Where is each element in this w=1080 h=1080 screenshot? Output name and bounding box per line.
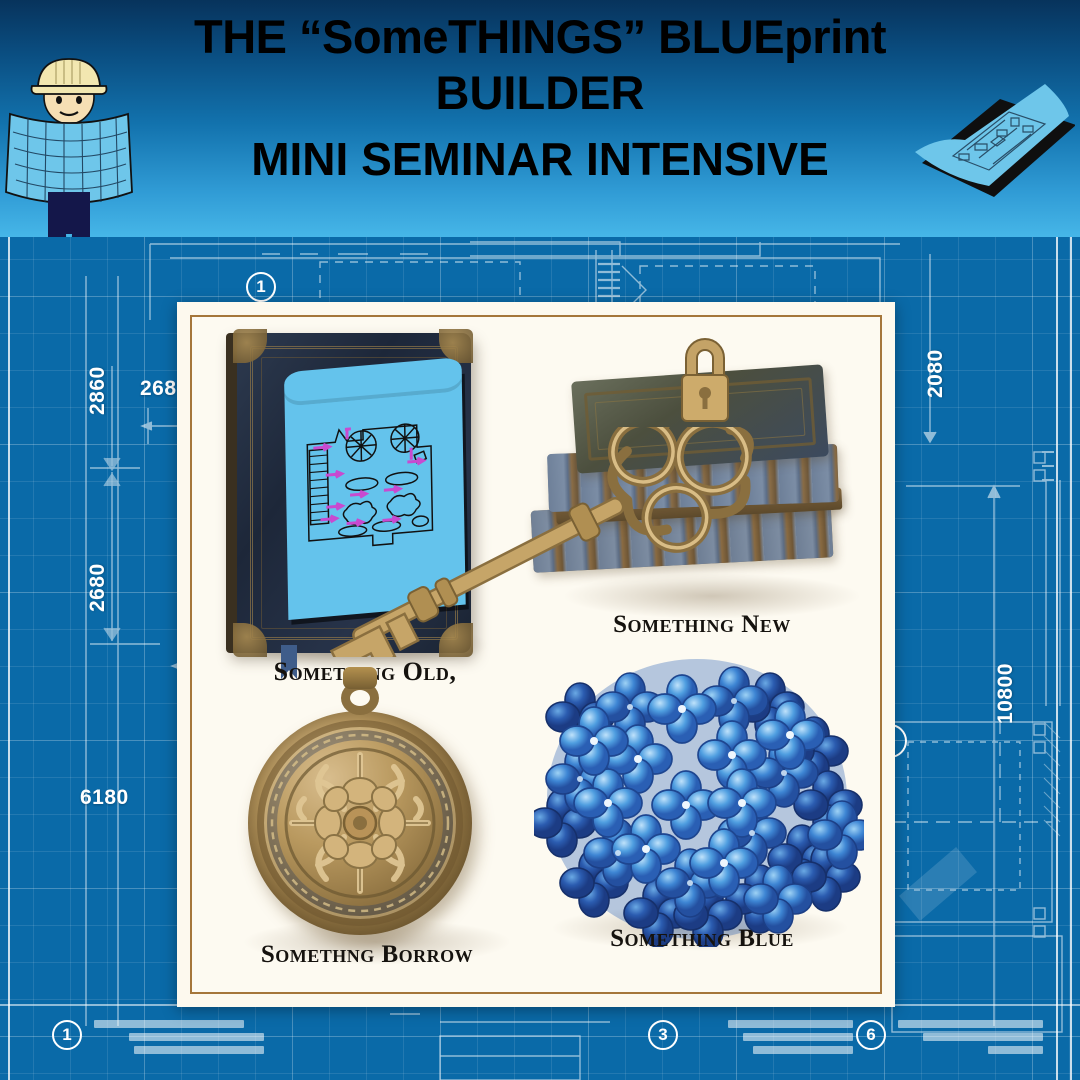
legend-lines-3: [690, 1020, 853, 1054]
poster-title-line-1: THE “SomeTHINGS” BLUEprint: [194, 12, 886, 61]
legend-item-1: 1: [52, 1020, 264, 1054]
legend-bar: [898, 1020, 1043, 1028]
quadrant-something-borrowed: Somethng Borrow: [202, 669, 532, 989]
legend-number-1: 1: [52, 1020, 82, 1050]
legend-number-3: 3: [648, 1020, 678, 1050]
quadrant-something-new: Something New: [522, 325, 882, 665]
pocket-watch-icon: [248, 711, 472, 935]
poster-header: THE “SomeTHINGS” BLUEprint BUILDER MINI …: [0, 0, 1080, 237]
watch-engraving: [248, 711, 472, 935]
dimension-2680: 2680: [86, 563, 110, 612]
somethings-card: Something Old,: [177, 302, 895, 1007]
legend-lines-6: [898, 1020, 1043, 1054]
dimension-10800: 10800: [994, 663, 1018, 724]
legend-bar: [728, 1020, 853, 1028]
legend-bar: [743, 1033, 853, 1041]
quadrant-something-blue: Something Blue: [522, 637, 882, 987]
legend-bar: [129, 1033, 264, 1041]
legend-item-6: 6: [856, 1020, 1043, 1054]
poster-canvas: 2860 268 2680 6180 2080 10800 1 5 1 2: [0, 0, 1080, 1080]
caption-something-new: Something New: [522, 611, 882, 639]
legend-bar: [94, 1020, 244, 1028]
legend-number-6: 6: [856, 1020, 886, 1050]
book-corner-tl: [233, 329, 267, 363]
dimension-6180: 6180: [80, 786, 129, 810]
book-corner-bl: [233, 623, 267, 657]
legend-bar: [134, 1046, 264, 1054]
legend-bar: [988, 1046, 1043, 1054]
blue-hydrangea-icon: [534, 647, 864, 947]
legend-lines-1: [94, 1020, 264, 1054]
caption-something-blue: Something Blue: [522, 925, 882, 953]
poster-title-line-2: BUILDER: [436, 67, 645, 120]
header-title-group: THE “SomeTHINGS” BLUEprint BUILDER MINI …: [0, 0, 1080, 237]
card-inner-frame: Something Old,: [190, 315, 882, 994]
padlock-icon: [672, 335, 738, 427]
caption-something-borrowed: Somethng Borrow: [202, 941, 532, 969]
plan-marker-1: 1: [246, 272, 276, 302]
poster-title-line-3: MINI SEMINAR INTENSIVE: [251, 134, 829, 185]
legend-bar: [923, 1033, 1043, 1041]
dimension-268: 268: [140, 377, 177, 401]
watch-crown: [343, 667, 377, 689]
legend-item-3: 3: [648, 1020, 853, 1054]
stacked-books-icon: [532, 367, 862, 597]
legend-bar: [753, 1046, 853, 1054]
dimension-2080: 2080: [924, 349, 948, 398]
dimension-2860: 2860: [86, 366, 110, 415]
